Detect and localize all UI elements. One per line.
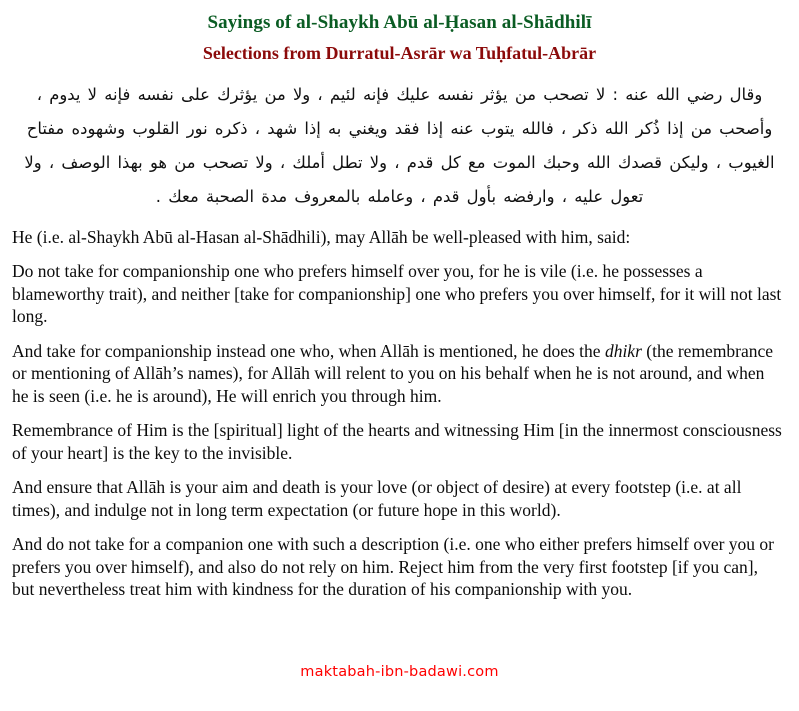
paragraph-1: Do not take for companionship one who pr… [12,260,783,328]
paragraph-4: And do not take for a companion one with… [12,533,783,601]
dhikr-emphasis: dhikr [605,341,642,361]
document-page: Sayings of al-Shaykh Abū al-Ḥasan al-Shā… [0,0,799,711]
subtitle-prefix: Selections from [203,43,326,63]
subtitle-book-title: Durratul-Asrār wa Tuḥfatul-Abrār [325,43,596,63]
arabic-passage: وقال رضي الله عنه : لا تصحب من يؤثر نفسه… [0,64,799,214]
paragraph-2: Remembrance of Him is the [spiritual] li… [12,419,783,464]
arabic-line-2: وأصحب من إذا ذُكر الله ذكر ، فالله يتوب … [18,112,781,146]
arabic-line-4: تعول عليه ، وارفضه بأول قدم ، وعامله بال… [18,180,781,214]
page-title: Sayings of al-Shaykh Abū al-Ḥasan al-Shā… [0,0,799,34]
english-translation: He (i.e. al-Shaykh Abū al-Hasan al-Shādh… [0,226,799,601]
arabic-line-1: وقال رضي الله عنه : لا تصحب من يؤثر نفسه… [18,78,781,112]
paragraph-dhikr: And take for companionship instead one w… [12,340,783,408]
intro-paragraph: He (i.e. al-Shaykh Abū al-Hasan al-Shādh… [12,226,783,249]
arabic-line-3: الغيوب ، وليكن قصدك الله وحبك الموت مع ك… [18,146,781,180]
footer-website-url[interactable]: maktabah-ibn-badawi.com [300,664,498,680]
page-subtitle: Selections from Durratul-Asrār wa Tuḥfat… [0,34,799,64]
footer: maktabah-ibn-badawi.com [0,663,799,681]
dhikr-before-text: And take for companionship instead one w… [12,341,605,361]
paragraph-3: And ensure that Allāh is your aim and de… [12,476,783,521]
